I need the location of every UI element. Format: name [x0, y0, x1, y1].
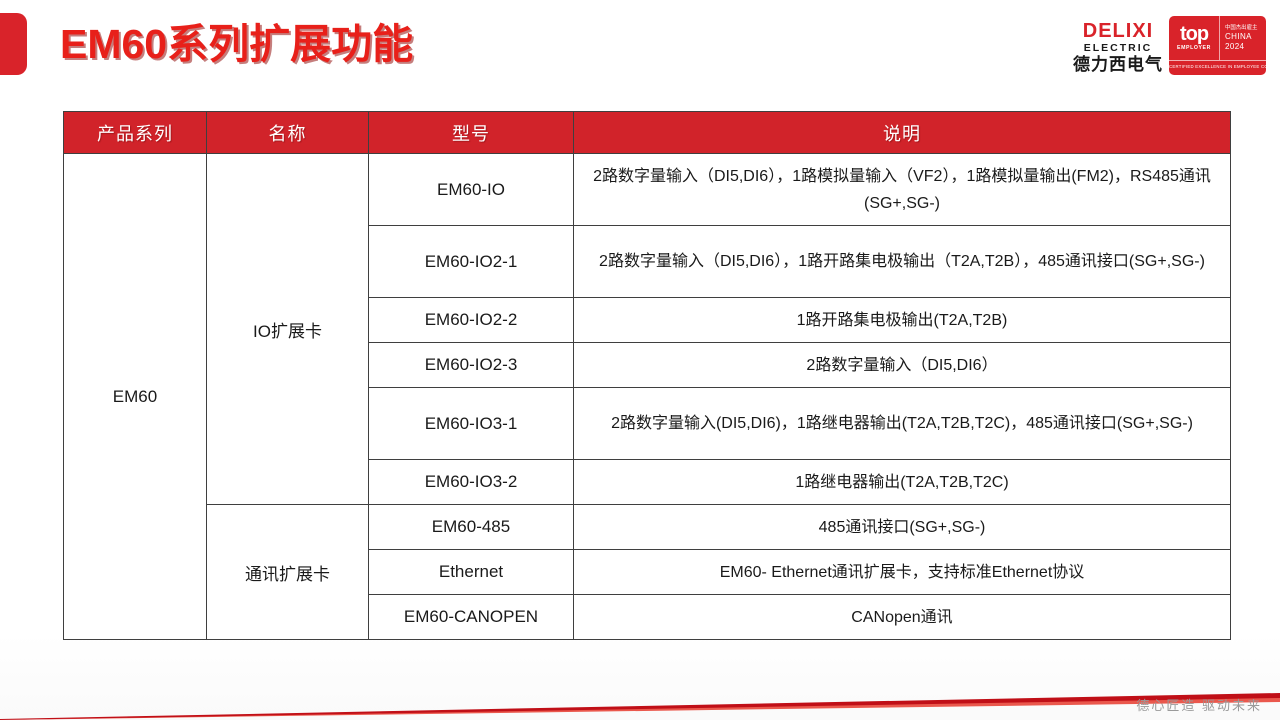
- cell-model: EM60-IO3-1: [369, 388, 574, 460]
- cell-model: Ethernet: [369, 550, 574, 595]
- footer-swoosh-icon: [0, 675, 1280, 720]
- top-employer-employer-text: EMPLOYER: [1177, 44, 1211, 52]
- top-employer-badge-main: top EMPLOYER 中国杰出雇主 CHINA 2024: [1169, 16, 1266, 60]
- cell-model: EM60-IO3-2: [369, 460, 574, 505]
- delixi-chinese-name: 德力西电气: [1073, 55, 1163, 75]
- cell-model: EM60-IO: [369, 154, 574, 226]
- top-employer-region-en: CHINA: [1225, 32, 1266, 42]
- cell-description: 2路数字量输入（DI5,DI6），1路开路集电极输出（T2A,T2B），485通…: [574, 226, 1231, 298]
- column-header-name: 名称: [207, 112, 369, 154]
- cell-description: CANopen通讯: [574, 595, 1231, 640]
- top-employer-region-block: 中国杰出雇主 CHINA 2024: [1220, 16, 1266, 60]
- column-header-description: 说明: [574, 112, 1231, 154]
- expansion-spec-table: 产品系列 名称 型号 说明 EM60 IO扩展卡 EM60-IO 2路数字量输入…: [63, 111, 1231, 640]
- delixi-wordmark: DELIXI: [1083, 21, 1153, 42]
- table-row: 通讯扩展卡 EM60-485 485通讯接口(SG+,SG-): [64, 505, 1231, 550]
- cell-description: 2路数字量输入（DI5,DI6），1路模拟量输入（VF2），1路模拟量输出(FM…: [574, 154, 1231, 226]
- table-header-row: 产品系列 名称 型号 说明: [64, 112, 1231, 154]
- cell-model: EM60-IO2-2: [369, 298, 574, 343]
- cell-description: 485通讯接口(SG+,SG-): [574, 505, 1231, 550]
- cell-model: EM60-CANOPEN: [369, 595, 574, 640]
- delixi-logo: DELIXI ELECTRIC 德力西电气: [1073, 16, 1163, 75]
- cell-group-name-io: IO扩展卡: [207, 154, 369, 505]
- cell-description: 1路继电器输出(T2A,T2B,T2C): [574, 460, 1231, 505]
- cell-description: 2路数字量输入(DI5,DI6)，1路继电器输出(T2A,T2B,T2C)，48…: [574, 388, 1231, 460]
- footer-decoration: [0, 675, 1280, 720]
- delixi-subtitle: ELECTRIC: [1084, 42, 1153, 55]
- top-employer-year: 2024: [1225, 42, 1266, 52]
- cell-model: EM60-485: [369, 505, 574, 550]
- column-header-model: 型号: [369, 112, 574, 154]
- footer-slogan: 德心匠造 驱动未来: [1136, 695, 1262, 714]
- cell-description: 2路数字量输入（DI5,DI6）: [574, 343, 1231, 388]
- cell-group-name-comm: 通讯扩展卡: [207, 505, 369, 640]
- cell-model: EM60-IO2-1: [369, 226, 574, 298]
- cell-description: EM60- Ethernet通讯扩展卡，支持标准Ethernet协议: [574, 550, 1231, 595]
- top-employer-region-cn: 中国杰出雇主: [1225, 24, 1266, 32]
- page-title: EM60系列扩展功能: [60, 16, 413, 72]
- top-employer-certification-text: CERTIFIED EXCELLENCE IN EMPLOYEE CONDITI…: [1169, 60, 1266, 69]
- title-accent-tab: [0, 13, 27, 75]
- cell-model: EM60-IO2-3: [369, 343, 574, 388]
- top-employer-badge: top EMPLOYER 中国杰出雇主 CHINA 2024 CERTIFIED…: [1169, 16, 1266, 75]
- table-row: EM60 IO扩展卡 EM60-IO 2路数字量输入（DI5,DI6），1路模拟…: [64, 154, 1231, 226]
- column-header-product-series: 产品系列: [64, 112, 207, 154]
- top-employer-top-text: top: [1180, 24, 1208, 44]
- top-employer-badge-mark: top EMPLOYER: [1169, 16, 1220, 60]
- brand-logo-group: DELIXI ELECTRIC 德力西电气 top EMPLOYER 中国杰出雇…: [1073, 16, 1266, 75]
- cell-description: 1路开路集电极输出(T2A,T2B): [574, 298, 1231, 343]
- slide-canvas: EM60系列扩展功能 DELIXI ELECTRIC 德力西电气 top EMP…: [0, 0, 1280, 720]
- cell-product-series: EM60: [64, 154, 207, 640]
